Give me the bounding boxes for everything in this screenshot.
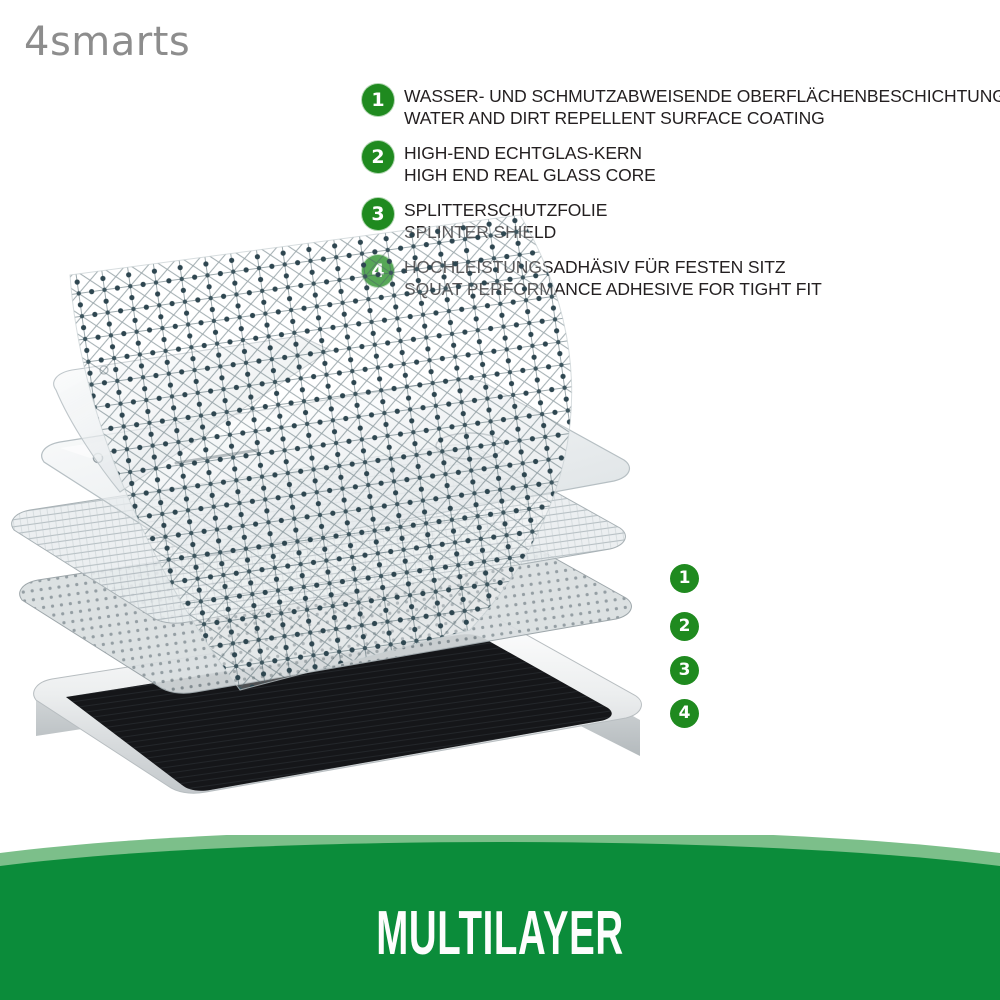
bottom-banner: MULTILAYER [0,835,1000,1000]
callout-badge-1: 1 [670,564,699,593]
feature-label-de: HIGH-END ECHTGLAS-KERN [404,142,994,164]
feature-label-de: WASSER- UND SCHMUTZABWEISENDE OBERFLÄCHE… [404,85,994,107]
feature-badge-2: 2 [362,141,394,173]
feature-item: 1 WASSER- UND SCHMUTZABWEISENDE OBERFLÄC… [362,84,994,141]
feature-badge-1: 1 [362,84,394,116]
infographic-page: 4smarts 1 WASSER- UND SCHMUTZABWEISENDE … [0,0,1000,1000]
callout-badge-2: 2 [670,612,699,641]
brand-logo: 4smarts [24,22,190,62]
banner-title: MULTILAYER [190,903,810,965]
feature-text: HIGH-END ECHTGLAS-KERN HIGH END REAL GLA… [404,141,994,186]
callout-badge-4: 4 [670,699,699,728]
feature-item: 2 HIGH-END ECHTGLAS-KERN HIGH END REAL G… [362,141,994,198]
callout-badge-3: 3 [670,656,699,685]
feature-label-en: HIGH END REAL GLASS CORE [404,164,994,186]
exploded-layers-graphic [0,200,720,860]
product-layer-illustration [0,200,720,860]
feature-label-en: WATER AND DIRT REPELLENT SURFACE COATING [404,107,994,129]
feature-text: WASSER- UND SCHMUTZABWEISENDE OBERFLÄCHE… [404,84,994,129]
